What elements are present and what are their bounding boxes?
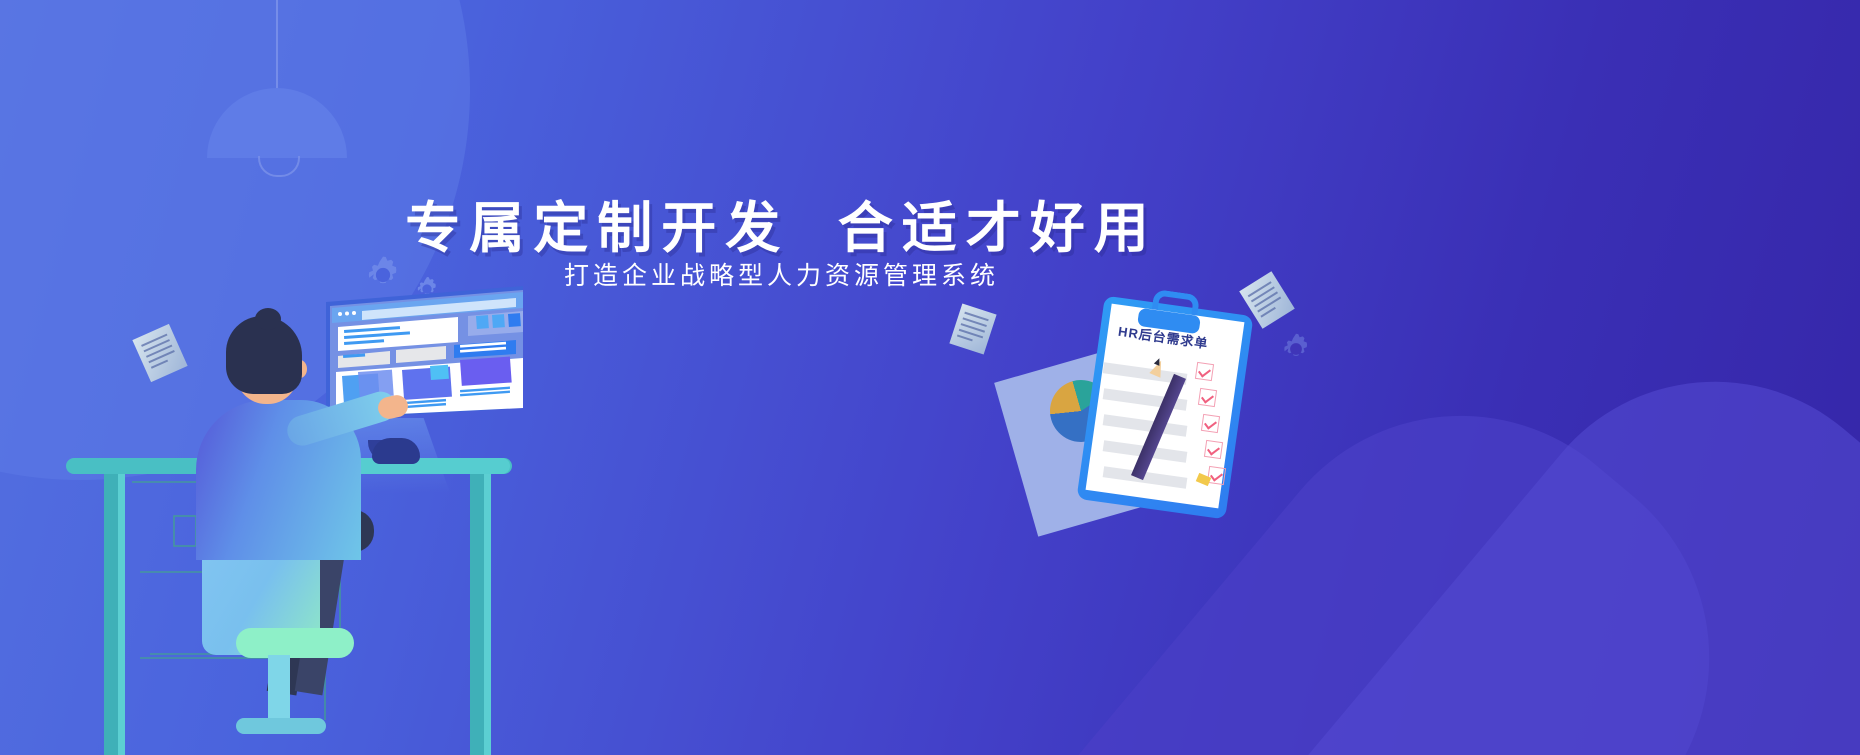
clipboard-checkbox[interactable] [1198, 388, 1217, 407]
office-chair-post [268, 655, 290, 723]
floating-paper-mid [949, 303, 996, 354]
person-hair-bun [255, 308, 281, 330]
gear-right-icon [1277, 330, 1315, 368]
office-chair-seat [236, 628, 354, 658]
page-subtitle: 打造企业战略型人力资源管理系统 [0, 256, 1563, 292]
desk-leg-left [104, 472, 118, 755]
desk-leg-right-highlight [484, 472, 491, 755]
desk-leg-right [470, 472, 484, 755]
clipboard-checkbox[interactable] [1195, 362, 1214, 381]
window-dot-3 [352, 311, 356, 315]
office-chair-base [236, 718, 326, 734]
lamp-cord [276, 0, 278, 90]
clipboard-checkbox[interactable] [1201, 414, 1220, 433]
window-dot-1 [338, 312, 342, 316]
clipboard-checkbox[interactable] [1207, 466, 1226, 485]
desk-leg-left-highlight [118, 472, 125, 755]
clipboard-checkbox[interactable] [1204, 440, 1223, 459]
computer-mouse-icon [372, 438, 420, 464]
window-dot-2 [345, 312, 349, 316]
hero-banner: 专属定制开发 合适才好用 打造企业战略型人力资源管理系统 [0, 0, 1860, 755]
page-title: 专属定制开发 合适才好用 [0, 183, 1563, 263]
